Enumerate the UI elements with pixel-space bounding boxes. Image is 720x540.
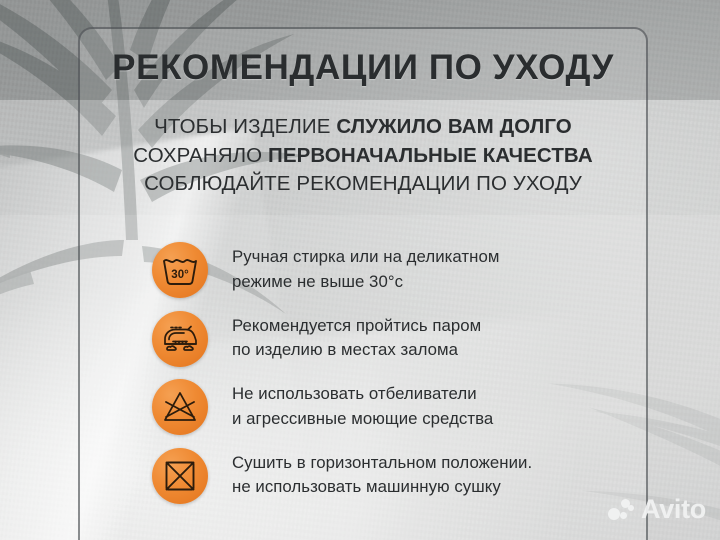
tip-3-line-2: и агрессивные моющие средства	[232, 407, 493, 432]
list-item: 30° Ручная стирка или на деликатном режи…	[152, 242, 622, 311]
no-tumble-dry-icon	[152, 448, 208, 504]
tip-4-line-1: Сушить в горизонтальном положении.	[232, 451, 532, 476]
subtitle-line-1-regular: ЧТОБЫ ИЗДЕЛИЕ	[154, 115, 336, 138]
tip-2-line-1: Рекомендуется пройтись паром	[232, 314, 481, 339]
page-title: РЕКОМЕНДАЦИИ ПО УХОДУ	[78, 48, 648, 88]
list-item-text: Ручная стирка или на деликатном режиме н…	[232, 242, 499, 294]
subtitle-line-1: ЧТОБЫ ИЗДЕЛИЕ СЛУЖИЛО ВАМ ДОЛГО	[78, 113, 648, 142]
list-item-text: Сушить в горизонтальном положении. не ис…	[232, 448, 532, 500]
tip-3-line-1: Не использовать отбеливатели	[232, 382, 493, 407]
tip-1-line-2: режиме не выше 30°c	[232, 270, 499, 295]
tip-4-line-2: не использовать машинную сушку	[232, 475, 532, 500]
list-item: Сушить в горизонтальном положении. не ис…	[152, 448, 622, 517]
list-item: Не использовать отбеливатели и агрессивн…	[152, 379, 622, 448]
tip-1-line-1: Ручная стирка или на деликатном	[232, 245, 499, 270]
avito-wordmark: Avito	[641, 496, 706, 523]
subtitle-line-3: СОБЛЮДАЙТЕ РЕКОМЕНДАЦИИ ПО УХОДУ	[78, 170, 648, 199]
subtitle-block: ЧТОБЫ ИЗДЕЛИЕ СЛУЖИЛО ВАМ ДОЛГО СОХРАНЯЛ…	[78, 113, 648, 199]
avito-watermark: Avito	[608, 496, 706, 523]
care-tips-list: 30° Ручная стирка или на деликатном режи…	[152, 242, 622, 516]
subtitle-line-2-regular: СОХРАНЯЛО	[133, 144, 268, 167]
subtitle-line-2-bold: ПЕРВОНАЧАЛЬНЫЕ КАЧЕСТВА	[268, 144, 593, 167]
no-bleach-icon	[152, 379, 208, 435]
subtitle-line-1-bold: СЛУЖИЛО ВАМ ДОЛГО	[336, 115, 572, 138]
subtitle-line-2: СОХРАНЯЛО ПЕРВОНАЧАЛЬНЫЕ КАЧЕСТВА	[78, 142, 648, 171]
tip-2-line-2: по изделию в местах залома	[232, 338, 481, 363]
care-instructions-infographic: РЕКОМЕНДАЦИИ ПО УХОДУ ЧТОБЫ ИЗДЕЛИЕ СЛУЖ…	[0, 0, 720, 540]
list-item-text: Не использовать отбеливатели и агрессивн…	[232, 379, 493, 431]
hand-wash-temperature-label: 30°	[171, 269, 189, 281]
hand-wash-30-icon: 30°	[152, 242, 208, 298]
steam-iron-icon	[152, 311, 208, 367]
list-item: Рекомендуется пройтись паром по изделию …	[152, 311, 622, 380]
avito-logo-icon	[608, 499, 634, 521]
list-item-text: Рекомендуется пройтись паром по изделию …	[232, 311, 481, 363]
